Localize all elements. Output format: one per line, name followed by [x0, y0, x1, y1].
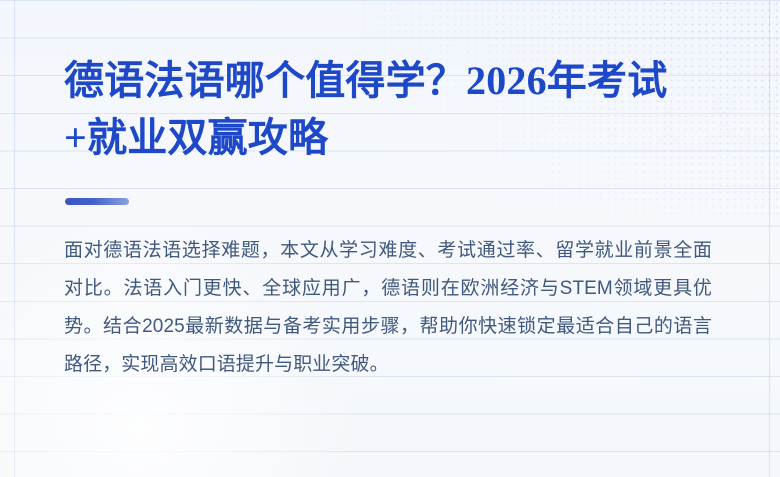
title-accent-divider [65, 198, 129, 205]
page-title: 德语法语哪个值得学？2026年考试 +就业双赢攻略 [64, 52, 714, 166]
cover-content: 德语法语哪个值得学？2026年考试 +就业双赢攻略 面对德语法语选择难题，本文从… [64, 0, 724, 477]
article-cover-card: 德语法语哪个值得学？2026年考试 +就业双赢攻略 面对德语法语选择难题，本文从… [0, 0, 780, 477]
article-summary: 面对德语法语选择难题，本文从学习难度、考试通过率、留学就业前景全面对比。法语入门… [64, 232, 712, 384]
